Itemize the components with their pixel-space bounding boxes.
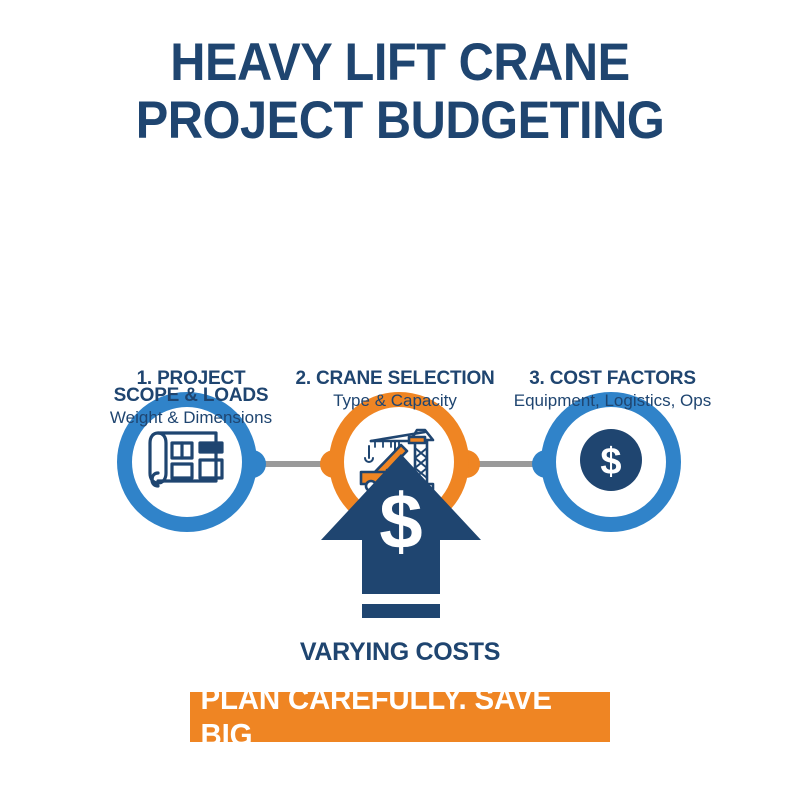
step-3-title: 3. COST FACTORS: [505, 370, 720, 387]
step-3-subtitle: Equipment, Logistics, Ops: [505, 390, 720, 412]
steps-row: $: [0, 196, 800, 346]
step-2-subtitle: Type & Capacity: [292, 390, 498, 412]
callout-banner[interactable]: PLAN CAREFULLY. SAVE BIG: [190, 692, 610, 742]
page-title: HEAVY LIFT CRANE PROJECT BUDGETING: [0, 34, 800, 150]
title-line-1: HEAVY LIFT CRANE: [32, 34, 768, 92]
dollar-coin-icon: $: [580, 429, 642, 496]
blueprint-icon: [144, 425, 230, 500]
outcome-label: VARYING COSTS: [0, 638, 800, 667]
step-2-caption: 2. CRANE SELECTION Type & Capacity: [292, 370, 498, 412]
step-1-title: 1. PROJECT SCOPE & LOADS: [66, 370, 316, 404]
callout-banner-text: PLAN CAREFULLY. SAVE BIG: [201, 681, 600, 753]
step-1-caption: 1. PROJECT SCOPE & LOADS Weight & Dimens…: [66, 370, 316, 429]
infographic-canvas: HEAVY LIFT CRANE PROJECT BUDGETING: [0, 0, 800, 800]
svg-text:$: $: [600, 441, 621, 483]
step-2-title: 2. CRANE SELECTION: [292, 370, 498, 387]
step-1-subtitle: Weight & Dimensions: [66, 407, 316, 429]
svg-text:$: $: [379, 477, 422, 565]
title-line-2: PROJECT BUDGETING: [32, 92, 768, 150]
step-3-circle[interactable]: $: [541, 392, 681, 532]
step-3-caption: 3. COST FACTORS Equipment, Logistics, Op…: [505, 370, 720, 412]
up-arrow-dollar-icon: $: [318, 452, 484, 622]
